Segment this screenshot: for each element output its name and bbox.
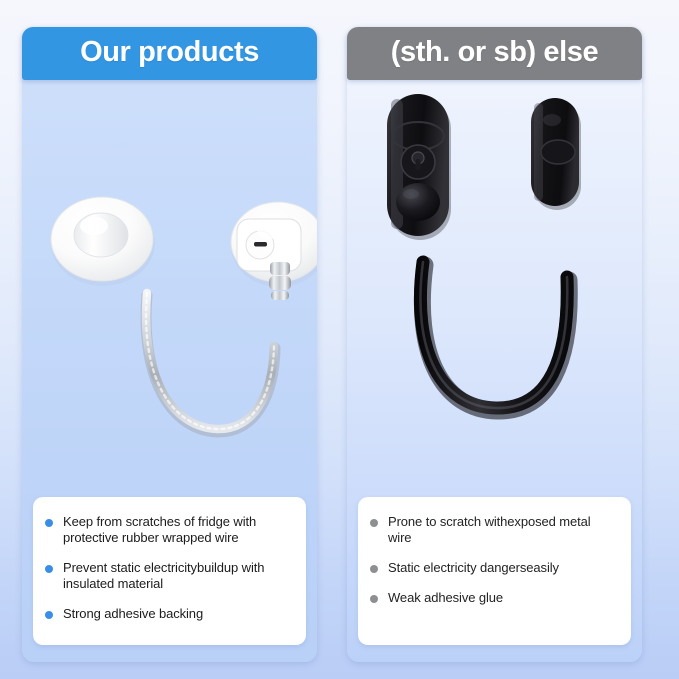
feature-text: Keep from scratches of fridge with prote…	[63, 514, 292, 546]
list-item: Prevent static electricitybuildup with i…	[45, 560, 292, 592]
bullet-dot-icon	[370, 519, 378, 527]
list-item: Strong adhesive backing	[45, 606, 292, 622]
list-item: Prone to scratch withexposed metal wire	[370, 514, 617, 546]
comparison-column-others: (sth. or sb) else	[347, 27, 642, 662]
bullet-dot-icon	[45, 519, 53, 527]
product-image-black-cable-lock	[347, 80, 642, 497]
column-header-others: (sth. or sb) else	[347, 27, 642, 80]
feature-text: Weak adhesive glue	[388, 590, 503, 606]
bullet-dot-icon	[45, 611, 53, 619]
comparison-board: Our products	[0, 0, 679, 679]
feature-text: Strong adhesive backing	[63, 606, 203, 622]
bullet-dot-icon	[370, 595, 378, 603]
product-image-white-cable-lock	[22, 80, 317, 497]
list-item: Static electricity dangerseasily	[370, 560, 617, 576]
feature-list-others: Prone to scratch withexposed metal wire …	[358, 497, 631, 645]
bullet-dot-icon	[370, 565, 378, 573]
bullet-dot-icon	[45, 565, 53, 573]
column-header-our-products: Our products	[22, 27, 317, 80]
list-item: Weak adhesive glue	[370, 590, 617, 606]
comparison-column-our-products: Our products	[22, 27, 317, 662]
feature-text: Prone to scratch withexposed metal wire	[388, 514, 617, 546]
feature-text: Static electricity dangerseasily	[388, 560, 559, 576]
feature-list-our-products: Keep from scratches of fridge with prote…	[33, 497, 306, 645]
feature-text: Prevent static electricitybuildup with i…	[63, 560, 292, 592]
list-item: Keep from scratches of fridge with prote…	[45, 514, 292, 546]
